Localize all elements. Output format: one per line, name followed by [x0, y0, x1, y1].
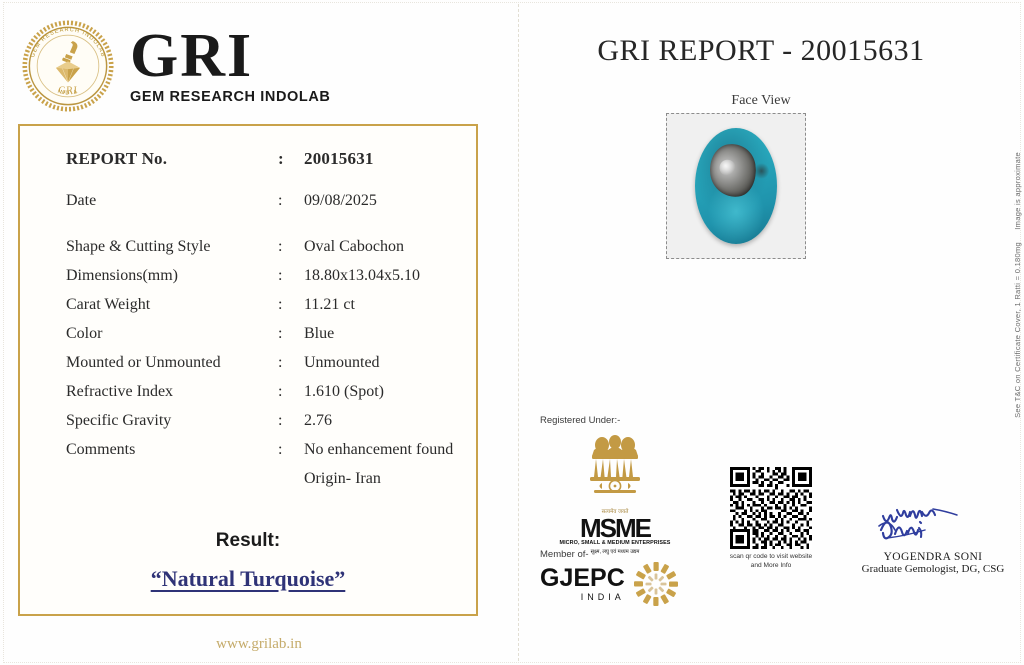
row-value: Origin- Iran: [304, 471, 381, 487]
member-of-section: Member of- GJEPC INDIA: [540, 549, 705, 607]
row-separator: :: [278, 239, 304, 255]
ashoka-emblem-icon: [582, 430, 648, 506]
row-separator: :: [278, 326, 304, 342]
table-row: Shape & Cutting Style : Oval Cabochon: [66, 239, 466, 255]
gem-matrix-inclusion: [706, 141, 759, 200]
row-separator: :: [278, 193, 304, 209]
row-value: Oval Cabochon: [304, 239, 404, 255]
member-of-label: Member of-: [540, 549, 705, 560]
row-value: 18.80x13.04x5.10: [304, 268, 420, 284]
qr-code-section[interactable]: scan qr code to visit website and More I…: [721, 467, 821, 571]
table-row: Carat Weight : 11.21 ct: [66, 297, 466, 313]
result-section: Result: “Natural Turquoise”: [20, 530, 476, 592]
gjepc-wordmark: GJEPC: [540, 566, 625, 591]
row-value: 09/08/2025: [304, 193, 377, 209]
row-separator: :: [278, 150, 304, 167]
signatory-title: Graduate Gemologist, DG, CSG: [848, 563, 1018, 575]
msme-wordmark: MSME: [540, 517, 690, 540]
gem-dark-spot: [754, 163, 769, 179]
report-details-box: REPORT No. : 20015631 Date : 09/08/2025 …: [18, 124, 478, 616]
row-label: Refractive Index: [66, 384, 278, 400]
terms-conditions-note: See T&C on Certificate Cover, 1 Ratti = …: [1013, 242, 1022, 418]
table-row: Mounted or Unmounted : Unmounted: [66, 355, 466, 371]
row-value: No enhancement found: [304, 442, 453, 458]
result-value: “Natural Turquoise”: [20, 566, 476, 592]
page-title: GRI REPORT - 20015631: [518, 34, 1004, 68]
signature-section: YOGENDRA SONI Graduate Gemologist, DG, C…: [848, 500, 1018, 575]
qr-caption: scan qr code to visit website and More I…: [721, 553, 821, 571]
table-row: Comments : No enhancement found: [66, 442, 466, 458]
brand-acronym: GRI: [130, 27, 331, 86]
gjepc-text-block: GJEPC INDIA: [540, 566, 625, 602]
row-value: 1.610 (Spot): [304, 384, 384, 400]
table-row: Refractive Index : 1.610 (Spot): [66, 384, 466, 400]
brand-full-name: GEM RESEARCH INDOLAB: [130, 89, 331, 105]
row-value: 11.21 ct: [304, 297, 355, 313]
row-value: Blue: [304, 326, 334, 342]
handwritten-signature-icon: [873, 500, 993, 550]
row-separator: :: [278, 268, 304, 284]
msme-subtitle: MICRO, SMALL & MEDIUM ENTERPRISES: [540, 540, 690, 546]
report-details-list: REPORT No. : 20015631 Date : 09/08/2025 …: [66, 150, 466, 500]
row-separator: :: [278, 355, 304, 371]
gjepc-sunburst-icon: [633, 561, 679, 607]
signatory-name: YOGENDRA SONI: [848, 551, 1018, 563]
left-panel: GEM RESEARCH INDOLAB INDIA: [0, 0, 518, 665]
right-panel: GRI REPORT - 20015631 Face View Image is…: [518, 0, 1024, 665]
brand-header: GEM RESEARCH INDOLAB INDIA: [22, 18, 492, 114]
gjepc-logo: GJEPC INDIA: [540, 561, 705, 607]
row-label: REPORT No.: [66, 150, 278, 167]
table-row: Color : Blue: [66, 326, 466, 342]
table-row: Specific Gravity : 2.76: [66, 413, 466, 429]
row-label: Comments: [66, 442, 278, 458]
gemstone-cabochon-image: [695, 128, 777, 244]
registered-under-section: Registered Under:-: [540, 415, 690, 555]
brand-wordmark: GRI GEM RESEARCH INDOLAB: [130, 27, 331, 106]
row-value: Unmounted: [304, 355, 380, 371]
row-label: Date: [66, 193, 278, 209]
row-separator: :: [278, 442, 304, 458]
row-separator: :: [278, 384, 304, 400]
gjepc-country: INDIA: [540, 592, 625, 602]
gem-photo: [666, 113, 806, 259]
svg-text:GRI: GRI: [58, 86, 77, 97]
table-row: REPORT No. : 20015631: [66, 150, 466, 167]
row-separator: :: [278, 413, 304, 429]
table-row: Date : 09/08/2025: [66, 193, 466, 209]
result-label: Result:: [20, 530, 476, 552]
qr-code-icon[interactable]: [730, 467, 812, 549]
face-view-label: Face View: [518, 93, 1004, 109]
qr-caption-line1: scan qr code to visit website: [721, 553, 821, 562]
row-separator: :: [278, 297, 304, 313]
row-label: Mounted or Unmounted: [66, 355, 278, 371]
row-value: 20015631: [304, 150, 374, 167]
row-label: Shape & Cutting Style: [66, 239, 278, 255]
table-row: x : Origin- Iran: [66, 471, 466, 487]
table-row: Dimensions(mm) : 18.80x13.04x5.10: [66, 268, 466, 284]
qr-caption-line2: and More Info: [721, 562, 821, 571]
row-label: Dimensions(mm): [66, 268, 278, 284]
gri-seal-icon: GEM RESEARCH INDOLAB INDIA: [22, 20, 114, 112]
row-label: Carat Weight: [66, 297, 278, 313]
website-footer[interactable]: www.grilab.in: [0, 636, 518, 653]
image-approximate-note: Image is approximate: [1013, 152, 1022, 230]
row-label: Specific Gravity: [66, 413, 278, 429]
row-label: Color: [66, 326, 278, 342]
registered-under-label: Registered Under:-: [540, 415, 690, 426]
certificate-page: GEM RESEARCH INDOLAB INDIA: [0, 0, 1024, 665]
row-value: 2.76: [304, 413, 332, 429]
